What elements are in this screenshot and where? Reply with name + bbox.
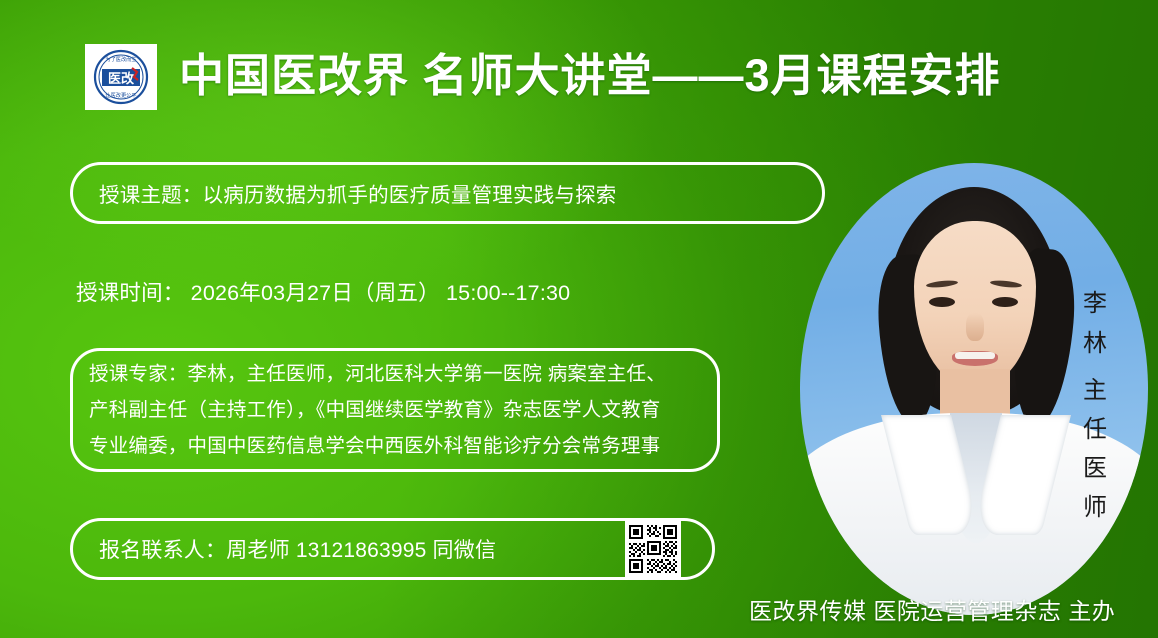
speaker-title-char-4: 师 xyxy=(1083,496,1107,520)
speaker-title-char-3: 医 xyxy=(1083,457,1107,481)
poster-header: 医改 为了医改而生 让医改更公平 中国医改界 名师大讲堂——3月课程安排 xyxy=(0,36,1158,122)
qr-code-icon[interactable] xyxy=(625,521,681,577)
expert-box: 授课专家：李林，主任医师，河北医科大学第一医院 病案室主任、 产科副主任（主持工… xyxy=(70,348,720,472)
expert-line-2: 产科副主任（主持工作），《中国继续医学教育》杂志医学人文教育 xyxy=(89,395,701,425)
schedule-time-text: 授课时间： 2026年03月27日（周五） 15:00--17:30 xyxy=(76,276,570,307)
page-title: 中国医改界 名师大讲堂——3月课程安排 xyxy=(179,40,1001,112)
portrait-eye-left xyxy=(929,297,955,307)
expert-line-3: 专业编委，中国中医药信息学会中西医外科智能诊疗分会常务理事 xyxy=(89,431,701,461)
logo-seal-icon: 医改 为了医改而生 让医改更公平 xyxy=(90,48,152,106)
svg-text:让医改更公平: 让医改更公平 xyxy=(105,91,136,99)
qr-code-graphic xyxy=(627,523,679,575)
portrait-nose xyxy=(966,313,984,341)
speaker-name-char-2: 林 xyxy=(1083,332,1107,356)
portrait-mouth xyxy=(952,351,998,366)
yigaijie-logo: 医改 为了医改而生 让医改更公平 xyxy=(85,44,157,110)
topic-text: 授课主题：以病历数据为抓手的医疗质量管理实践与探索 xyxy=(99,178,796,208)
topic-box: 授课主题：以病历数据为抓手的医疗质量管理实践与探索 xyxy=(70,162,825,224)
svg-text:医改: 医改 xyxy=(108,71,135,87)
poster-canvas: 医改 为了医改而生 让医改更公平 中国医改界 名师大讲堂——3月课程安排 授课主… xyxy=(0,0,1158,638)
svg-text:为了医改而生: 为了医改而生 xyxy=(105,55,136,63)
contact-box: 报名联系人：周老师 13121863995 同微信 xyxy=(70,518,715,580)
speaker-title-char-1: 主 xyxy=(1083,379,1107,403)
speaker-name-char-1: 李 xyxy=(1083,292,1107,316)
contact-text: 报名联系人：周老师 13121863995 同微信 xyxy=(99,534,496,564)
speaker-title-char-2: 任 xyxy=(1083,418,1107,442)
portrait-eye-right xyxy=(992,297,1018,307)
organizer-footer-text: 医改界传媒 医院运营管理杂志 主办 xyxy=(749,592,1115,626)
expert-line-1: 授课专家：李林，主任医师，河北医科大学第一医院 病案室主任、 xyxy=(89,359,701,389)
